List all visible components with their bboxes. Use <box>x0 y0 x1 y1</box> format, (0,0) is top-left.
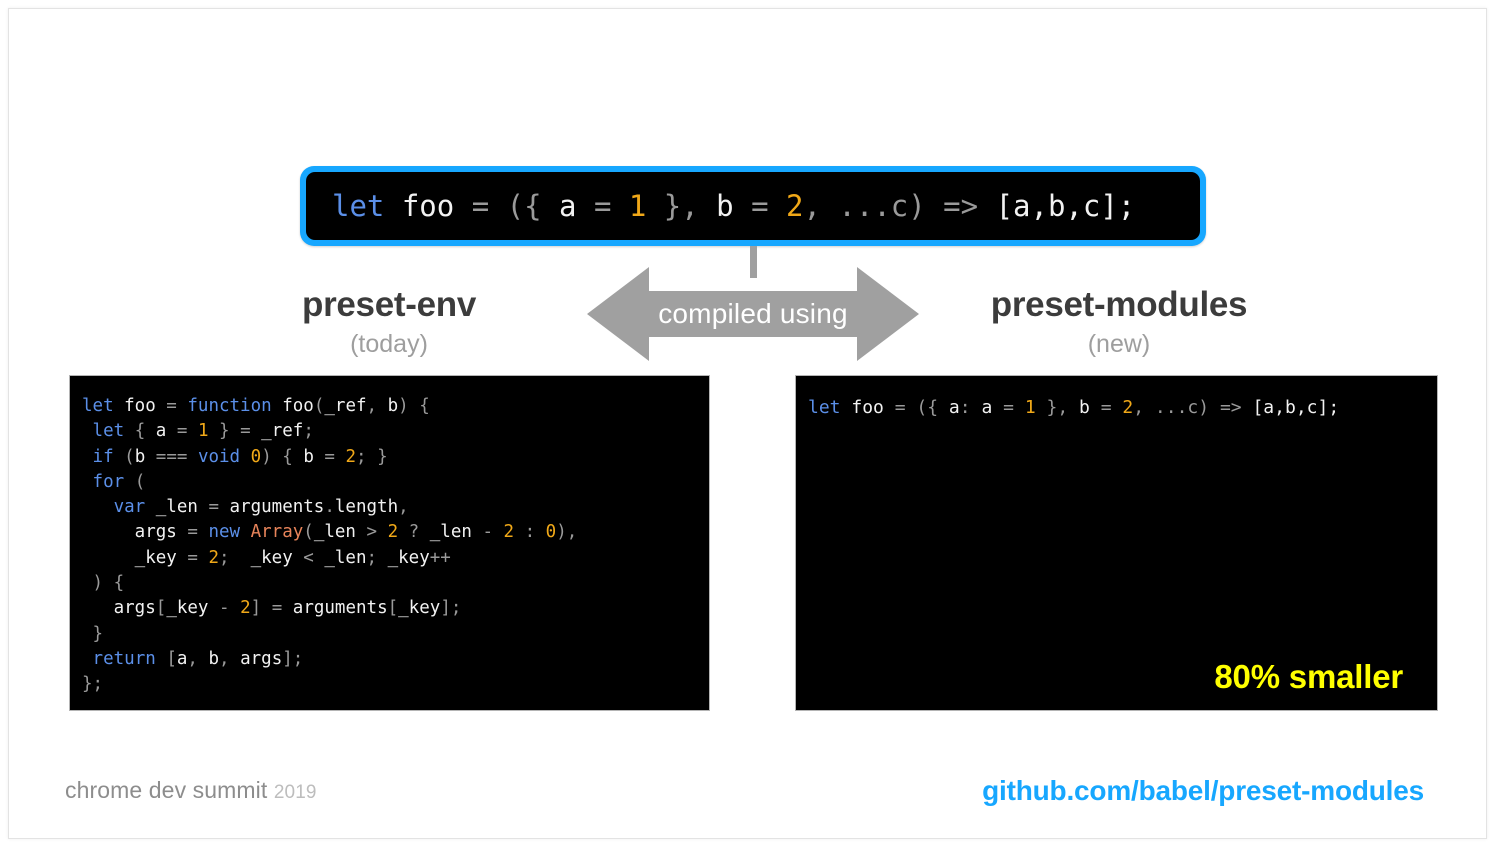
code-token: => <box>943 189 995 223</box>
conference-footer: chrome dev summit 2019 <box>65 777 317 804</box>
code-token: } <box>208 421 240 441</box>
source-code-highlight-box: let foo = ({ a = 1 }, b = 2, ...c) => [a… <box>300 166 1206 246</box>
code-token: let <box>82 396 114 416</box>
code-line: var _len = arguments.length, <box>82 495 709 520</box>
preset-modules-caption: preset-modules (new) <box>909 286 1329 358</box>
code-token: b <box>303 447 324 467</box>
slide-root: let foo = ({ a = 1 }, b = 2, ...c) => [a… <box>0 0 1495 847</box>
code-token: b <box>208 649 219 669</box>
code-token: length <box>335 497 398 517</box>
preset-modules-output-code: let foo = ({ a: a = 1 }, b = 2, ...c) =>… <box>808 395 1437 421</box>
code-token: [ <box>388 598 399 618</box>
code-token: }; <box>82 674 103 694</box>
code-token: ( <box>314 396 325 416</box>
code-token: , <box>367 396 388 416</box>
code-line: let foo = function foo(_ref, b) { <box>82 394 709 419</box>
code-token: ++ <box>430 548 451 568</box>
code-token: foo <box>272 396 314 416</box>
preset-env-subtitle: (today) <box>179 331 599 359</box>
code-token: === <box>156 447 198 467</box>
code-line: if (b === void 0) { b = 2; } <box>82 445 709 470</box>
code-token: ]; <box>440 598 461 618</box>
code-line: }; <box>82 672 709 697</box>
code-token: - <box>219 598 240 618</box>
code-token: a <box>177 649 188 669</box>
code-token: = <box>166 396 187 416</box>
code-token: b <box>388 396 399 416</box>
code-token: var <box>114 497 146 517</box>
code-token: let <box>93 421 125 441</box>
code-token: => <box>1220 397 1253 418</box>
conference-name: chrome dev summit <box>65 777 267 803</box>
code-token: ; } <box>356 447 388 467</box>
code-token: 2 <box>1122 397 1133 418</box>
code-token: ( <box>303 522 314 542</box>
code-token: let <box>808 397 841 418</box>
code-token: = <box>208 497 229 517</box>
code-token: 2 <box>388 522 399 542</box>
code-token: 2 <box>208 548 219 568</box>
code-token: 0 <box>251 447 262 467</box>
preset-env-title: preset-env <box>179 286 599 325</box>
code-token: , <box>398 497 409 517</box>
code-token: : <box>514 522 546 542</box>
code-token: b <box>1079 397 1101 418</box>
code-token: , <box>1133 397 1155 418</box>
code-token: _len <box>324 548 366 568</box>
preset-env-output-panel: let foo = function foo(_ref, b) { let { … <box>69 375 710 711</box>
code-token: , <box>187 649 208 669</box>
code-token: , <box>803 189 838 223</box>
code-token <box>82 421 93 441</box>
code-token <box>156 649 167 669</box>
code-token: = <box>472 189 507 223</box>
code-token: }, <box>646 189 716 223</box>
code-token: 1 <box>198 421 209 441</box>
preset-modules-title: preset-modules <box>909 286 1329 325</box>
code-token: ({ <box>507 189 559 223</box>
code-token: ]; <box>282 649 303 669</box>
code-token: new <box>208 522 240 542</box>
code-token: _len <box>145 497 208 517</box>
code-token: _len <box>430 522 483 542</box>
code-token: let <box>332 189 384 223</box>
code-token: = <box>272 598 293 618</box>
code-token: ? <box>398 522 430 542</box>
code-token: _key <box>388 548 430 568</box>
repo-link[interactable]: github.com/babel/preset-modules <box>982 775 1424 807</box>
code-line: return [a, b, args]; <box>82 647 709 672</box>
code-line: args[_key - 2] = arguments[_key]; <box>82 596 709 621</box>
compiled-using-arrow: compiled using <box>587 267 919 361</box>
code-token: _key <box>166 598 219 618</box>
code-token: if <box>93 447 114 467</box>
code-token: = <box>1101 397 1123 418</box>
code-token: foo <box>114 396 167 416</box>
code-token: arguments <box>230 497 325 517</box>
code-token: < <box>303 548 324 568</box>
code-token: ] <box>251 598 272 618</box>
code-token <box>124 421 135 441</box>
code-line: _key = 2; _key < _len; _key++ <box>82 546 709 571</box>
code-token: 1 <box>629 189 646 223</box>
code-token: 1 <box>1025 397 1036 418</box>
code-token: args <box>82 522 187 542</box>
code-token: . <box>324 497 335 517</box>
source-code-text: let foo = ({ a = 1 }, b = 2, ...c) => [a… <box>332 192 1135 221</box>
code-token: 2 <box>786 189 803 223</box>
code-token: ) { <box>261 447 303 467</box>
code-token: 2 <box>504 522 515 542</box>
code-token: function <box>187 396 271 416</box>
code-token: ) { <box>398 396 430 416</box>
code-token: = <box>751 189 786 223</box>
code-token <box>82 649 93 669</box>
code-token <box>240 447 251 467</box>
code-token: 2 <box>240 598 251 618</box>
code-token: ({ <box>916 397 949 418</box>
code-token: , <box>219 649 240 669</box>
code-token: - <box>482 522 503 542</box>
code-token: ; <box>219 548 251 568</box>
code-token: _ref <box>324 396 366 416</box>
code-token <box>82 497 114 517</box>
code-token: a <box>981 397 1003 418</box>
code-token: = <box>187 522 208 542</box>
code-token: = <box>1003 397 1025 418</box>
code-token <box>82 447 93 467</box>
code-line: args = new Array(_len > 2 ? _len - 2 : 0… <box>82 520 709 545</box>
code-token: b <box>716 189 751 223</box>
code-token: foo <box>384 189 471 223</box>
slide-frame: let foo = ({ a = 1 }, b = 2, ...c) => [a… <box>8 8 1487 839</box>
code-token: arguments <box>293 598 388 618</box>
code-token: = <box>240 421 261 441</box>
code-token: ( <box>124 472 145 492</box>
code-token: _key <box>82 548 187 568</box>
preset-modules-subtitle: (new) <box>909 331 1329 359</box>
code-line: for ( <box>82 470 709 495</box>
code-token: args <box>240 649 282 669</box>
code-token: _len <box>314 522 367 542</box>
code-token: ; <box>367 548 388 568</box>
code-token: for <box>93 472 125 492</box>
double-arrow-icon <box>587 267 919 361</box>
code-token: b <box>135 447 156 467</box>
code-token: return <box>93 649 156 669</box>
preset-modules-output-panel: let foo = ({ a: a = 1 }, b = 2, ...c) =>… <box>795 375 1438 711</box>
code-line: let foo = ({ a: a = 1 }, b = 2, ...c) =>… <box>808 395 1437 421</box>
code-token: a <box>949 397 960 418</box>
code-line: } <box>82 622 709 647</box>
code-token: args <box>82 598 156 618</box>
source-code-box: let foo = ({ a = 1 }, b = 2, ...c) => [a… <box>306 172 1200 240</box>
code-token: = <box>187 548 208 568</box>
size-reduction-badge: 80% smaller <box>1214 658 1403 696</box>
preset-env-output-code: let foo = function foo(_ref, b) { let { … <box>82 394 709 698</box>
code-token <box>82 472 93 492</box>
code-token: ...c) <box>1155 397 1220 418</box>
code-token: Array <box>251 522 304 542</box>
code-token: [a,b,c]; <box>996 189 1136 223</box>
code-token: { <box>135 421 156 441</box>
code-token: 0 <box>546 522 557 542</box>
code-token: = <box>177 421 198 441</box>
code-token: = <box>594 189 629 223</box>
conference-year: 2019 <box>274 782 317 803</box>
code-token: : <box>960 397 982 418</box>
code-token: ( <box>114 447 135 467</box>
code-token: ), <box>556 522 577 542</box>
code-token: foo <box>841 397 895 418</box>
code-token: _key <box>398 598 440 618</box>
code-line: ) { <box>82 571 709 596</box>
code-token: [a,b,c]; <box>1252 397 1339 418</box>
code-token: _key <box>251 548 304 568</box>
code-token: _ref <box>261 421 303 441</box>
code-token: [ <box>166 649 177 669</box>
code-token: ) { <box>82 573 124 593</box>
code-token: [ <box>156 598 167 618</box>
code-token <box>240 522 251 542</box>
preset-env-caption: preset-env (today) <box>179 286 599 358</box>
code-token: }, <box>1036 397 1079 418</box>
code-token: = <box>895 397 917 418</box>
code-token: 2 <box>346 447 357 467</box>
code-token: ; <box>303 421 314 441</box>
code-token: > <box>367 522 388 542</box>
code-token: a <box>559 189 594 223</box>
code-token: void <box>198 447 240 467</box>
code-token: } <box>82 624 103 644</box>
code-token: a <box>156 421 177 441</box>
code-token: = <box>324 447 345 467</box>
code-token: ...c) <box>838 189 943 223</box>
code-line: let { a = 1 } = _ref; <box>82 419 709 444</box>
